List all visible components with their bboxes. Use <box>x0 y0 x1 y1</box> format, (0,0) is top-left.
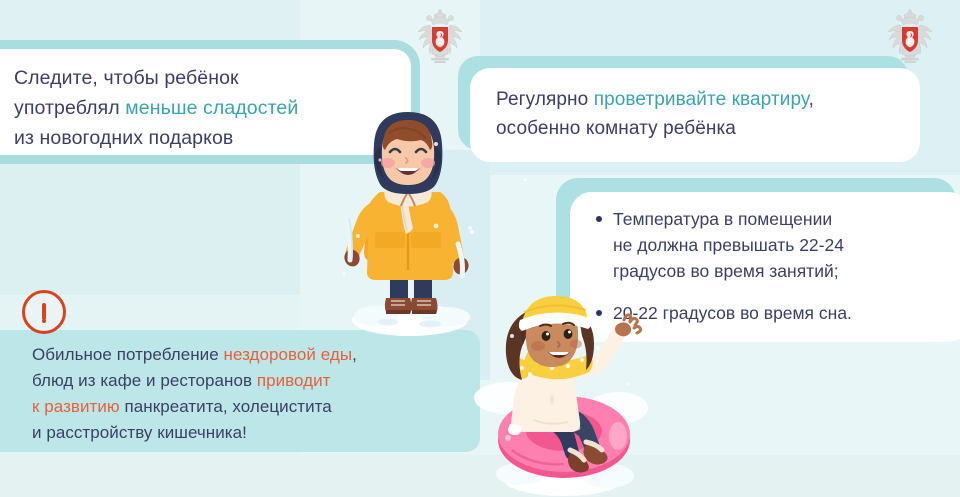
card-unhealthy-food: Обильное потребление нездоровой еды, блю… <box>0 330 480 452</box>
bullet-dot-icon <box>596 216 602 222</box>
card-ventilate: Регулярно проветривайте квартиру, особен… <box>470 68 920 162</box>
list-item: Температура в помещении не должна превыш… <box>594 206 952 284</box>
food-line-4: и расстройству кишечника! <box>32 420 464 446</box>
exclamation-circle-icon <box>22 290 66 334</box>
background-band-left-lower <box>0 165 300 295</box>
rospotrebnadzor-emblem <box>883 6 937 66</box>
food-line-3: к развитию панкреатита, холецистита <box>32 394 464 420</box>
snow-fleck <box>524 178 527 181</box>
food-line-2: блюд из кафе и ресторанов приводит <box>32 368 464 394</box>
rospotrebnadzor-emblem <box>413 6 467 66</box>
infographic-poster: Следите, чтобы ребёнок употреблял меньше… <box>0 0 960 497</box>
food-line-1: Обильное потребление нездоровой еды, <box>32 342 464 368</box>
girl-on-snow-tube <box>468 288 658 497</box>
exclamation-dot <box>42 319 47 324</box>
ventilate-line-2: особенно комнату ребёнка <box>496 114 900 143</box>
exclamation-bar <box>42 303 46 320</box>
ventilate-line-1: Регулярно проветривайте квартиру, <box>496 85 900 114</box>
sweets-line-1: Следите, чтобы ребёнок <box>14 63 393 93</box>
